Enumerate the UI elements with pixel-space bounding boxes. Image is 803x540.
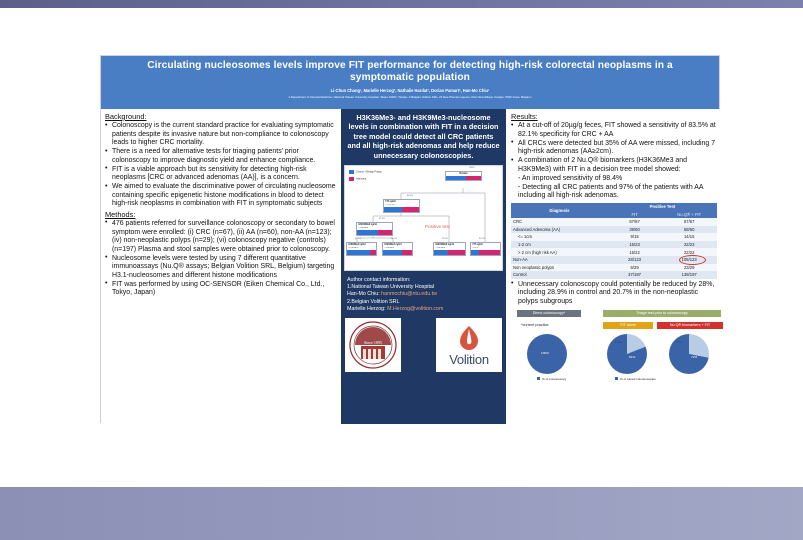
results-closing-bullets: Unnecessary colonoscopy could potentiall… [511, 281, 717, 307]
pie-label-nuq-28: 28% [676, 340, 682, 344]
author-contact-block: Author contact information: 1.National T… [341, 271, 506, 315]
tree-legend-item-1: Adenoma [349, 177, 382, 181]
author-list: Li-Chun Chang¹, Marielle Herzog², Nathal… [115, 88, 705, 94]
bar-blue [383, 250, 402, 255]
cell-fit: 37/197 [608, 271, 662, 279]
pie-fit-alone [607, 334, 647, 374]
cell-diagnosis: Non-AA [511, 256, 608, 264]
table-row: Advanced Adenoma (AA) 39/60 58/60 [511, 226, 717, 234]
list-item: All CRCs were detected but 35% of AA wer… [511, 140, 717, 157]
cell-nuq: 22/23 [661, 241, 717, 249]
legend-label: Control + Benign Polyps [356, 171, 382, 174]
tree-leaf-3: H3K36Me3 ng/ml < cut-off A [433, 242, 466, 256]
logo-row: Since 1895 Volition [341, 316, 506, 378]
cell-fit: 9/15 [608, 233, 662, 241]
pie-label-fit-19: 19% [615, 340, 621, 344]
cell-fit: 6/29 [608, 264, 662, 272]
list-item-sub: - Detecting all CRC patients and 97% of … [511, 184, 717, 201]
list-item: At a cut-off of 20µg/g feces, FIT showed… [511, 122, 717, 139]
bar-pink [378, 230, 392, 235]
table-row: 1-2 cm 15/23 22/23 [511, 241, 717, 249]
list-item: There is a need for alternative tests fo… [105, 148, 337, 165]
legend-label: Adenoma [356, 178, 366, 181]
list-item: Nucleosome levels were tested by using 7… [105, 255, 337, 281]
colonoscopy-reduction-chart: Direct colonoscopy* Triage test prior to… [511, 310, 717, 384]
tree-leaf-1: H3K9Me3 ng/ml < cut-off B [346, 242, 377, 256]
node-bar [384, 207, 419, 212]
th-diagnosis: Diagnosis [511, 203, 608, 218]
cell-diagnosis: 1-2 cm [511, 241, 608, 249]
bar-pink [402, 250, 412, 255]
tree-node-root: Review [445, 171, 482, 181]
list-item: A combination of 2 Nu.Q® biomarkers (H3K… [511, 157, 717, 174]
node-pct-root: 100% [469, 167, 474, 169]
table-row: > 2 cm (high risk AA) 15/22 22/22 [511, 248, 717, 256]
node-bar [347, 250, 376, 255]
table-row: Control 37/197 139/197 [511, 271, 717, 279]
cell-nuq: 23/29 [661, 264, 717, 272]
cell-nuq: 105/123 [661, 256, 717, 264]
contact-email-1[interactable]: hanmochiu@ntu.edu.tw [381, 291, 437, 297]
pie-label-direct-100: 100% [541, 351, 549, 355]
cell-fit: 15/22 [608, 248, 662, 256]
list-item-sub: - An improved sensitivity of 98.4% [511, 175, 717, 184]
methods-bullets: 476 patients referred for surveillance c… [105, 220, 337, 298]
th-fit: FIT [608, 211, 662, 219]
th-positive-test: Positive Test [608, 203, 717, 211]
viewer-top-band [0, 0, 803, 8]
table-row: Non neoplastic polyps 6/29 23/29 [511, 264, 717, 272]
list-item: Unnecessary colonoscopy could potentiall… [511, 281, 717, 307]
list-item: Colonoscopy is the current standard prac… [105, 122, 337, 148]
tree-leaf-2: H3K9Me3 ng/ml < cut-off B [382, 242, 413, 256]
ntu-hospital-logo: Since 1895 [345, 318, 401, 372]
key-message-banner: H3K36Me3- and H3K9Me3-nucleosome levels … [341, 109, 506, 165]
bar-pink [479, 250, 500, 255]
list-item: We aimed to evaluate the discriminative … [105, 183, 337, 209]
bar-pink [402, 207, 419, 212]
current-practice-note: *current practice [521, 323, 549, 327]
methods-heading: Methods: [105, 210, 337, 219]
legend-swatch [615, 377, 618, 380]
cell-diagnosis: <= 1cm [511, 233, 608, 241]
legend-label: % of saved colonoscopies [620, 377, 656, 381]
legend-label: % of colonoscopy [542, 377, 566, 381]
bar-blue [471, 250, 479, 255]
tree-node-h3k36me3: H3K36Me3 ng/ml < cut-off A [356, 222, 393, 236]
node-pct-5: 19.1% [442, 238, 448, 240]
node-pct-6: 33.7% [479, 238, 485, 240]
node-pct-2: 47.2% [379, 218, 385, 220]
cell-diagnosis: Non neoplastic polyps [511, 264, 608, 272]
background-bullets: Colonoscopy is the current standard prac… [105, 122, 337, 209]
cell-nuq: 58/60 [661, 226, 717, 234]
pie-nuq-fit [669, 334, 709, 374]
tree-legend-item-0: Control + Benign Polyps [349, 170, 382, 174]
table-row: <= 1cm 9/15 14/15 [511, 233, 717, 241]
cell-fit: 67/67 [608, 218, 662, 226]
decision-tree-figure: Control + Benign Polyps Adenoma Review 1… [344, 165, 503, 271]
contact-org-2: 2.Belgian Volition SRL [347, 299, 501, 306]
tree-legend: Control + Benign Polyps Adenoma [349, 170, 382, 181]
volition-wordmark: Volition [449, 353, 489, 366]
cell-fit: 28/123 [608, 256, 662, 264]
volition-logo: Volition [436, 318, 502, 372]
cell-fit: 15/23 [608, 241, 662, 249]
cell-diagnosis: CRC [511, 218, 608, 226]
bar-blue [347, 250, 370, 255]
contact-person-1-name: Han-Mo Chiu: [347, 291, 380, 297]
cell-nuq: 139/197 [661, 271, 717, 279]
tag-fit-alone: FIT alone [603, 322, 653, 329]
bar-blue [357, 230, 378, 235]
tag-triage-test: Triage test prior to colonoscopy [603, 310, 721, 317]
volition-flame-icon [456, 325, 482, 353]
chart-legend-colonoscopy: % of colonoscopy [537, 377, 566, 381]
bar-pink [448, 250, 465, 255]
results-bullets: At a cut-off of 20µg/g feces, FIT showed… [511, 122, 717, 201]
bar-pink [466, 176, 481, 181]
slide-viewer: Circulating nucleosomes levels improve F… [0, 0, 803, 540]
cell-diagnosis: Control [511, 271, 608, 279]
legend-swatch-pink [349, 177, 354, 181]
contact-email-2[interactable]: M.Herzog@volition.com [387, 306, 443, 312]
node-bar [383, 250, 412, 255]
bar-blue [384, 207, 402, 212]
poster-title-bar: Circulating nucleosomes levels improve F… [101, 56, 719, 109]
results-heading: Results: [511, 112, 717, 121]
tag-direct-colonoscopy: Direct colonoscopy* [517, 310, 581, 317]
tag-nuq-fit: Nu.Q® biomarkers + FIT [657, 322, 723, 329]
cell-diagnosis: > 2 cm (high risk AA) [511, 248, 608, 256]
chart-legend-saved: % of saved colonoscopies [615, 377, 656, 381]
table-row: Non-AA 28/123 105/123 [511, 256, 717, 264]
results-table: Diagnosis Positive Test FIT Nu.Q® + FIT … [511, 203, 717, 279]
tree-node-fit-1: FIT ng/ml < 29.6 LS [383, 199, 420, 213]
node-pct-3: 31.1% [355, 238, 361, 240]
page-title: Circulating nucleosomes levels improve F… [115, 60, 705, 84]
node-bar [471, 250, 500, 255]
legend-swatch [537, 377, 540, 380]
node-bar [434, 250, 465, 255]
center-column: H3K36Me3- and H3K9Me3-nucleosome levels … [341, 109, 506, 424]
bar-blue [434, 250, 448, 255]
list-item: FIT was performed by using OC-SENSOR (Ei… [105, 281, 337, 298]
pie-label-fit-81: 81% [629, 355, 635, 359]
tree-leaf-4: FIT ng/ml ≥ 29.6 [470, 242, 501, 256]
node-bar [446, 176, 481, 181]
ntu-logo-icon: Since 1895 [347, 320, 399, 370]
right-column: Results: At a cut-off of 20µg/g feces, F… [506, 109, 721, 424]
bar-pink [370, 250, 376, 255]
cell-nuq: 14/15 [661, 233, 717, 241]
cell-fit: 39/60 [608, 226, 662, 234]
pie-label-nuq-72: 72% [691, 355, 697, 359]
cell-nuq-highlighted: 22/22 [661, 248, 717, 256]
affiliations: 1.Department of Internal Medicine, Natio… [115, 95, 705, 99]
results-table-wrap: Diagnosis Positive Test FIT Nu.Q® + FIT … [511, 203, 717, 279]
viewer-bottom-band [0, 487, 803, 540]
background-heading: Background: [105, 112, 337, 121]
contact-person-2-name: Marielle Herzog: [347, 306, 386, 312]
svg-text:Since 1895: Since 1895 [364, 340, 382, 345]
poster: Circulating nucleosomes levels improve F… [100, 55, 720, 423]
list-item: FIT is a viable approach but its sensiti… [105, 166, 337, 183]
th-nuq-fit: Nu.Q® + FIT [661, 211, 717, 219]
contact-person-2: Marielle Herzog: M.Herzog@volition.com [347, 306, 501, 313]
node-pct-4: 16.1% [391, 238, 397, 240]
contact-org-1: 1.National Taiwan University Hospital [347, 284, 501, 291]
list-item: 476 patients referred for surveillance c… [105, 220, 337, 254]
positive-test-annotation: Positive test [425, 224, 450, 229]
chart-tag-row: Direct colonoscopy* Triage test prior to… [511, 310, 717, 319]
legend-swatch-blue [349, 170, 354, 174]
contact-heading: Author contact information: [347, 277, 501, 284]
node-pct-1: 66.3% [407, 195, 413, 197]
cell-diagnosis: Advanced Adenoma (AA) [511, 226, 608, 234]
left-column: Background: Colonoscopy is the current s… [101, 109, 341, 424]
bar-blue [446, 176, 466, 181]
table-row: CRC 67/67 67/67 [511, 218, 717, 226]
cell-nuq: 67/67 [661, 218, 717, 226]
contact-person-1: Han-Mo Chiu: hanmochiu@ntu.edu.tw [347, 291, 501, 298]
node-bar [357, 230, 392, 235]
